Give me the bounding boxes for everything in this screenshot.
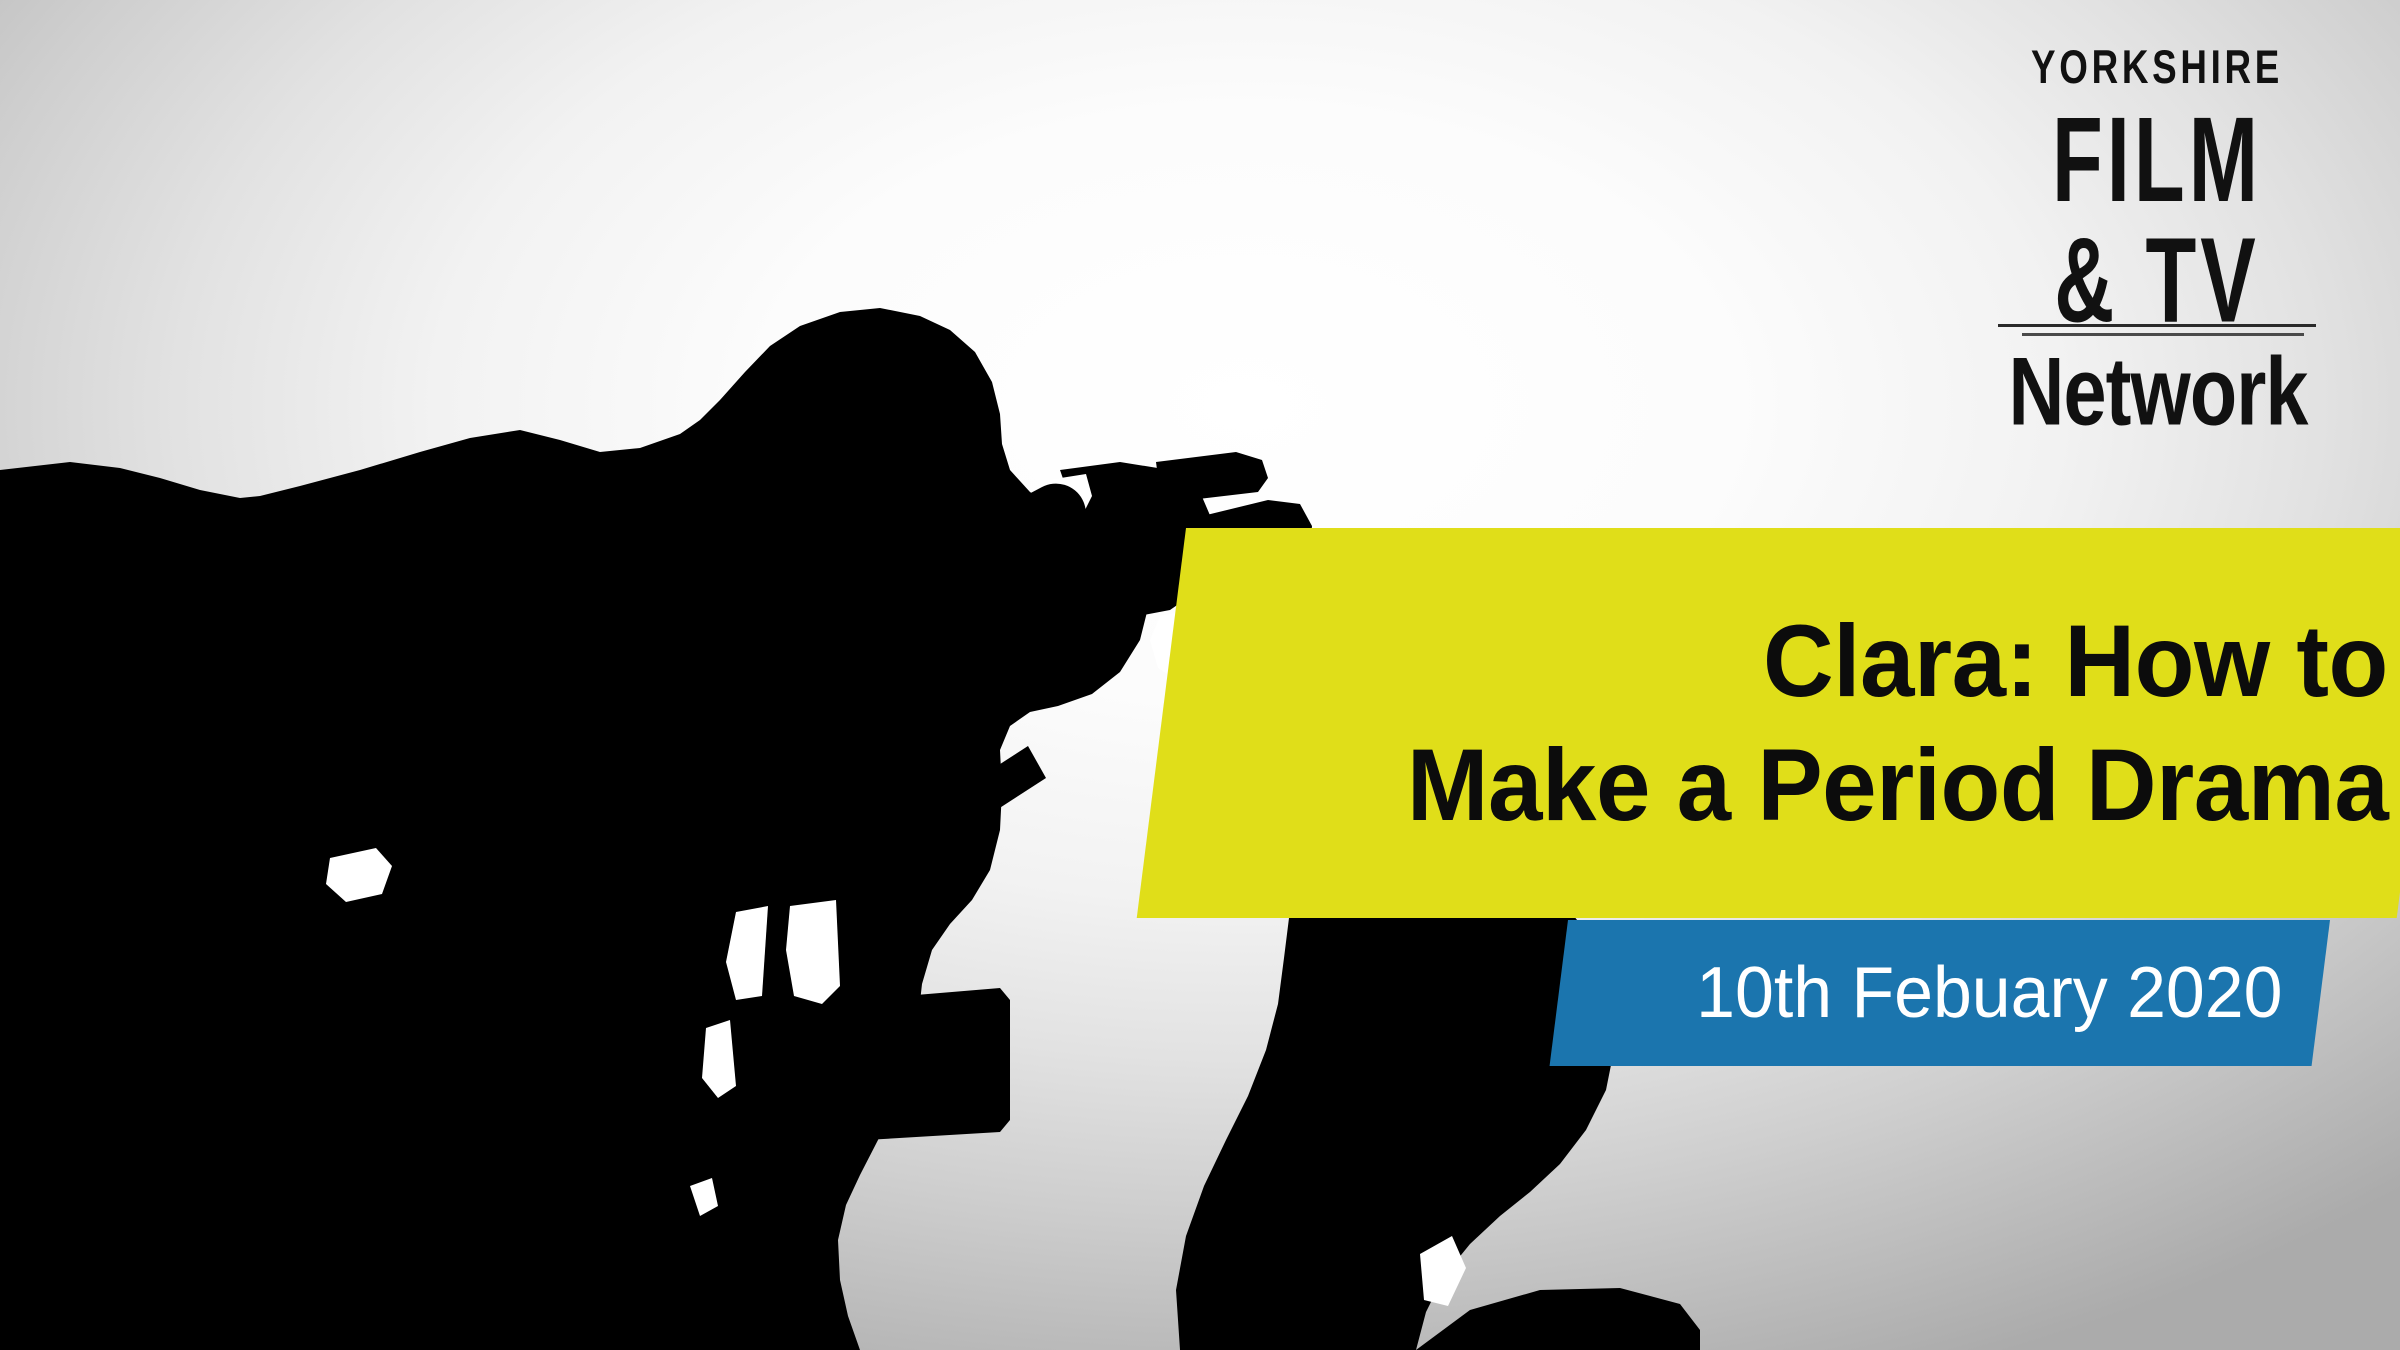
logo-line-film-and-tv: FILM & TV <box>2025 100 2289 341</box>
title-banner: Clara: How to Make a Period Drama <box>1137 528 2400 918</box>
date-banner-content: 10th Febuary 2020 <box>1568 920 2330 1066</box>
logo-line-network: Network <box>2009 344 2306 440</box>
date-banner: 10th Febuary 2020 <box>1550 920 2330 1066</box>
slide-canvas: YORKSHIRE FILM & TV Network Clara: How t… <box>0 0 2400 1350</box>
logo-line-yorkshire: YORKSHIRE <box>2005 44 2309 91</box>
title-line-2: Make a Period Drama <box>1407 723 2388 847</box>
title-banner-content: Clara: How to Make a Period Drama <box>1186 528 2400 918</box>
logo-divider-line-upper <box>1998 324 2316 327</box>
event-date: 10th Febuary 2020 <box>1696 952 2282 1034</box>
title-line-1: Clara: How to <box>1763 599 2388 723</box>
logo-divider-line-lower <box>2022 333 2304 336</box>
logo-divider <box>1992 324 2322 338</box>
yorkshire-film-tv-network-logo: YORKSHIRE FILM & TV Network <box>1992 44 2322 430</box>
